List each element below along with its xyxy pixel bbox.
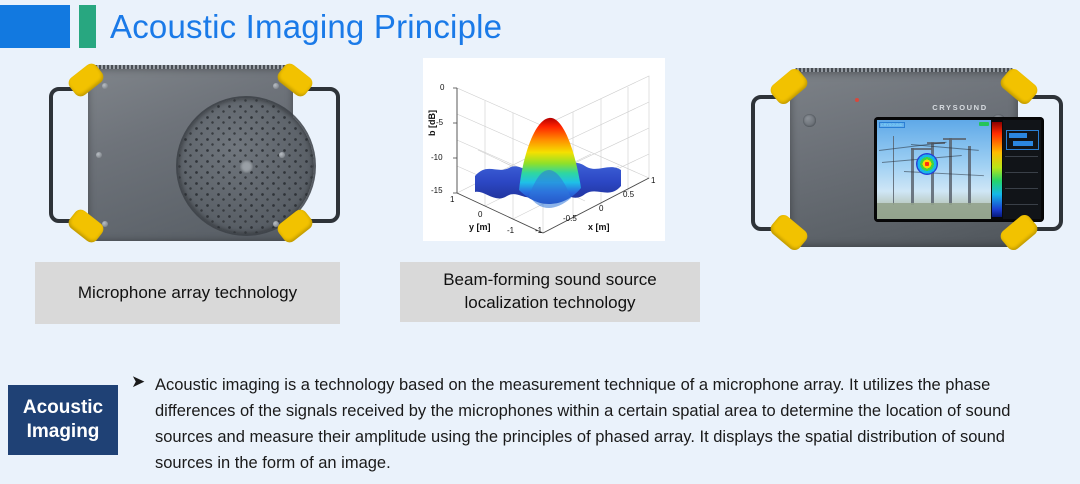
- screw-mid-right: [279, 152, 285, 158]
- ytick-0: 0: [478, 210, 482, 219]
- screw-top-right: [273, 83, 279, 89]
- pylon-2-crossarm: [911, 148, 932, 150]
- camera-display[interactable]: CRYSOUND: [874, 117, 1044, 222]
- pylon-2: [911, 148, 914, 205]
- screw-mid-left: [96, 152, 102, 158]
- pylon-4-crossarm: [943, 138, 966, 140]
- acoustic-hotspot-overlay: [916, 153, 938, 175]
- readout-bar-a: [1009, 133, 1027, 138]
- ground: [877, 203, 991, 219]
- xtick-neg1: -1: [535, 226, 542, 235]
- microphone-array-device-image: [33, 57, 348, 254]
- xtick-0: 0: [599, 204, 603, 213]
- acoustic-imaging-badge: Acoustic Imaging: [8, 385, 118, 455]
- ztick-10: -10: [431, 153, 443, 162]
- side-panel-divider-3: [1005, 188, 1038, 189]
- xtick-neg05: -0.5: [563, 214, 577, 223]
- side-panel-readout-box: [1006, 130, 1039, 150]
- description-paragraph: Acoustic imaging is a technology based o…: [155, 372, 1018, 476]
- status-led: [855, 98, 859, 102]
- pylon-1: [893, 136, 895, 205]
- ztick-0: 0: [440, 83, 444, 92]
- caption-microphone-array: Microphone array technology: [35, 262, 340, 324]
- screen-corner-tag: CRYSOUND: [879, 122, 905, 128]
- z-axis-label: b [dB]: [427, 110, 437, 136]
- device-body: [88, 69, 293, 241]
- side-panel-divider-2: [1005, 172, 1038, 173]
- side-panel-divider-1: [1005, 156, 1038, 157]
- brand-label: CRYSOUND: [900, 103, 1020, 112]
- screen-side-panel: [1003, 120, 1041, 219]
- caption-beamforming: Beam-forming sound source localization t…: [400, 262, 700, 322]
- acoustic-camera-device-image: CRYSOUND: [735, 57, 1070, 262]
- array-center-hub: [240, 160, 253, 173]
- acoustic-colorbar: [992, 122, 1002, 217]
- side-panel-divider-4: [1005, 204, 1038, 205]
- battery-indicator: [979, 122, 989, 126]
- power-button[interactable]: [803, 114, 816, 127]
- camera-body: CRYSOUND: [790, 72, 1018, 247]
- screw-top-left: [102, 83, 108, 89]
- ztick-15: -15: [431, 186, 443, 195]
- ytick-neg1: -1: [507, 226, 514, 235]
- ztick-5: -5: [436, 118, 443, 127]
- beamforming-surface-plot: 0 -5 -10 -15 1 0 -1 -1 -0.5 0 0.5 1 b [d…: [423, 58, 665, 241]
- page-title: Acoustic Imaging Principle: [110, 4, 502, 50]
- header-accent-blue-block: [0, 5, 70, 48]
- power-wire-4: [904, 171, 984, 176]
- ytick-1: 1: [450, 195, 454, 204]
- xtick-1: 1: [651, 176, 655, 185]
- surface-plot-svg: [423, 58, 665, 241]
- slide-root: Acoustic Imaging Principle: [0, 0, 1080, 484]
- y-axis-label: y [m]: [469, 222, 491, 232]
- substation-photo: CRYSOUND: [877, 120, 991, 219]
- bullet-arrow-icon: ➤: [131, 372, 145, 392]
- x-axis-label: x [m]: [588, 222, 610, 232]
- header-accent-teal-bar: [79, 5, 96, 48]
- xtick-05: 0.5: [623, 190, 634, 199]
- readout-bar-b: [1013, 141, 1033, 146]
